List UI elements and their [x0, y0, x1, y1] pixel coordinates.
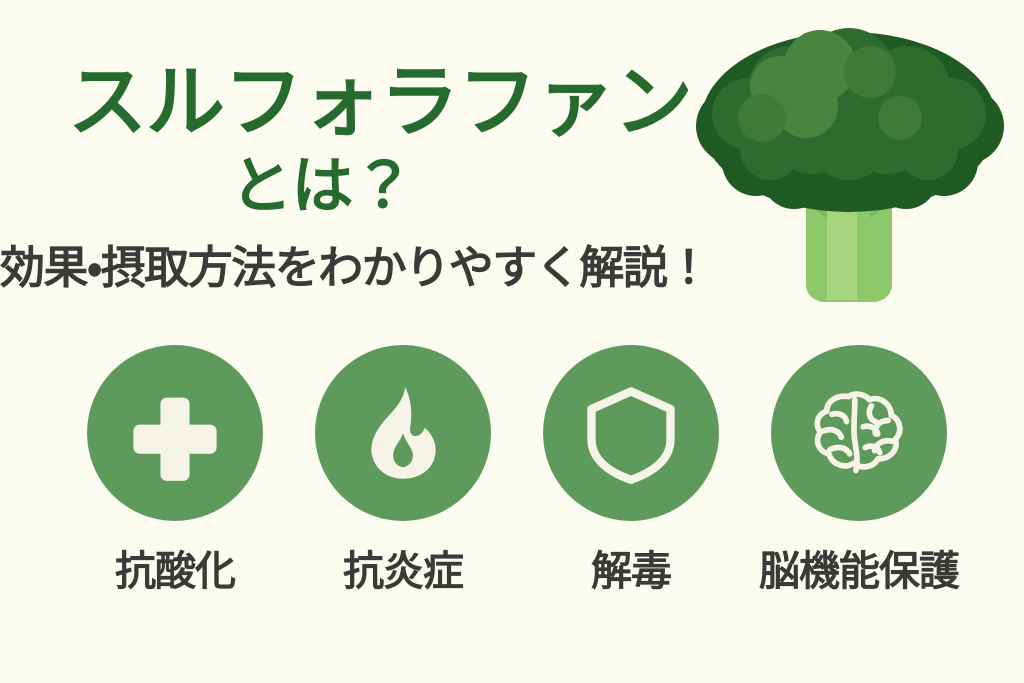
page-title-line-2: とは？ — [0, 152, 700, 222]
infographic-poster: スルフォラファン とは？ 効果・摂取方法をわかりやすく解説！ — [0, 0, 1024, 683]
benefit-item-anti-inflammatory[interactable]: 抗炎症 — [315, 345, 491, 595]
benefits-row: 抗酸化 抗炎症 解毒 — [0, 345, 1024, 595]
benefit-icon-circle — [87, 345, 263, 521]
benefit-item-antioxidant[interactable]: 抗酸化 — [87, 345, 263, 595]
benefit-item-brain-protection[interactable]: 脳機能保護 — [771, 345, 947, 595]
benefit-label: 解毒 — [591, 547, 671, 595]
benefit-label: 脳機能保護 — [759, 547, 959, 595]
headline-block: スルフォラファン とは？ 効果・摂取方法をわかりやすく解説！ — [0, 58, 700, 296]
page-title-line-1: スルフォラファン — [0, 58, 700, 146]
benefit-label: 抗炎症 — [343, 547, 463, 595]
benefit-icon-circle — [543, 345, 719, 521]
page-subtitle: 効果・摂取方法をわかりやすく解説！ — [0, 240, 700, 296]
broccoli-florets — [696, 28, 1004, 212]
benefit-label: 抗酸化 — [115, 547, 235, 595]
benefit-icon-circle — [771, 345, 947, 521]
broccoli-illustration — [694, 22, 1004, 322]
brain-icon — [807, 381, 911, 485]
shield-icon — [579, 381, 683, 485]
benefit-icon-circle — [315, 345, 491, 521]
benefit-item-detox[interactable]: 解毒 — [543, 345, 719, 595]
plus-icon — [123, 381, 227, 485]
flame-icon — [351, 381, 455, 485]
